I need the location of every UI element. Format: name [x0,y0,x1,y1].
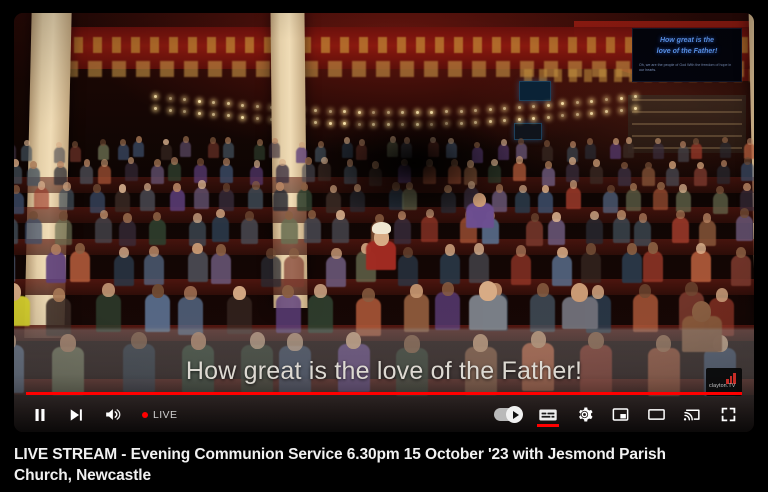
controls-right-group [486,400,746,430]
volume-icon [103,405,122,424]
video-player[interactable]: How great is the love of the Father! Oh,… [14,13,754,432]
miniplayer-icon [611,405,630,424]
autoplay-knob [506,406,523,423]
youtube-player-page: How great is the love of the Father! Oh,… [0,0,768,492]
projection-screen: How great is the love of the Father! Oh,… [632,28,742,82]
settings-button[interactable] [566,400,602,430]
projector-line-2: love of the Father! [637,48,737,55]
video-title[interactable]: LIVE STREAM - Evening Communion Service … [14,444,714,486]
pause-button[interactable] [22,400,58,430]
subtitles-button[interactable] [530,400,566,430]
projector-subtext: Oh, we are the people of God With the fr… [639,63,735,73]
fullscreen-button[interactable] [710,400,746,430]
progress-track[interactable] [26,392,742,395]
autoplay-toggle[interactable] [486,400,530,430]
live-label: LIVE [153,409,177,421]
progress-played [26,392,742,395]
projector-line-1: How great is the [637,37,737,44]
video-frame[interactable]: How great is the love of the Father! Oh,… [14,13,754,432]
gear-icon [575,405,594,424]
live-dot-icon [142,412,148,418]
pause-icon [31,406,49,424]
progress-bar[interactable] [14,387,754,399]
cast-button[interactable] [674,400,710,430]
subtitles-active-underline [537,424,559,427]
next-video-button[interactable] [58,400,94,430]
scene-shadow [314,108,514,218]
theater-icon [647,405,666,424]
autoplay-toggle-icon [494,408,522,421]
subtitles-icon [537,404,559,426]
player-controls[interactable]: LIVE [14,399,754,432]
cast-icon [683,405,702,424]
miniplayer-button[interactable] [602,400,638,430]
live-badge[interactable]: LIVE [136,400,183,430]
closed-caption-text: How great is the love of the Father! [14,357,754,386]
next-icon [67,406,85,424]
volume-button[interactable] [94,400,130,430]
theater-mode-button[interactable] [638,400,674,430]
controls-left-group: LIVE [22,400,183,430]
fullscreen-icon [719,405,738,424]
